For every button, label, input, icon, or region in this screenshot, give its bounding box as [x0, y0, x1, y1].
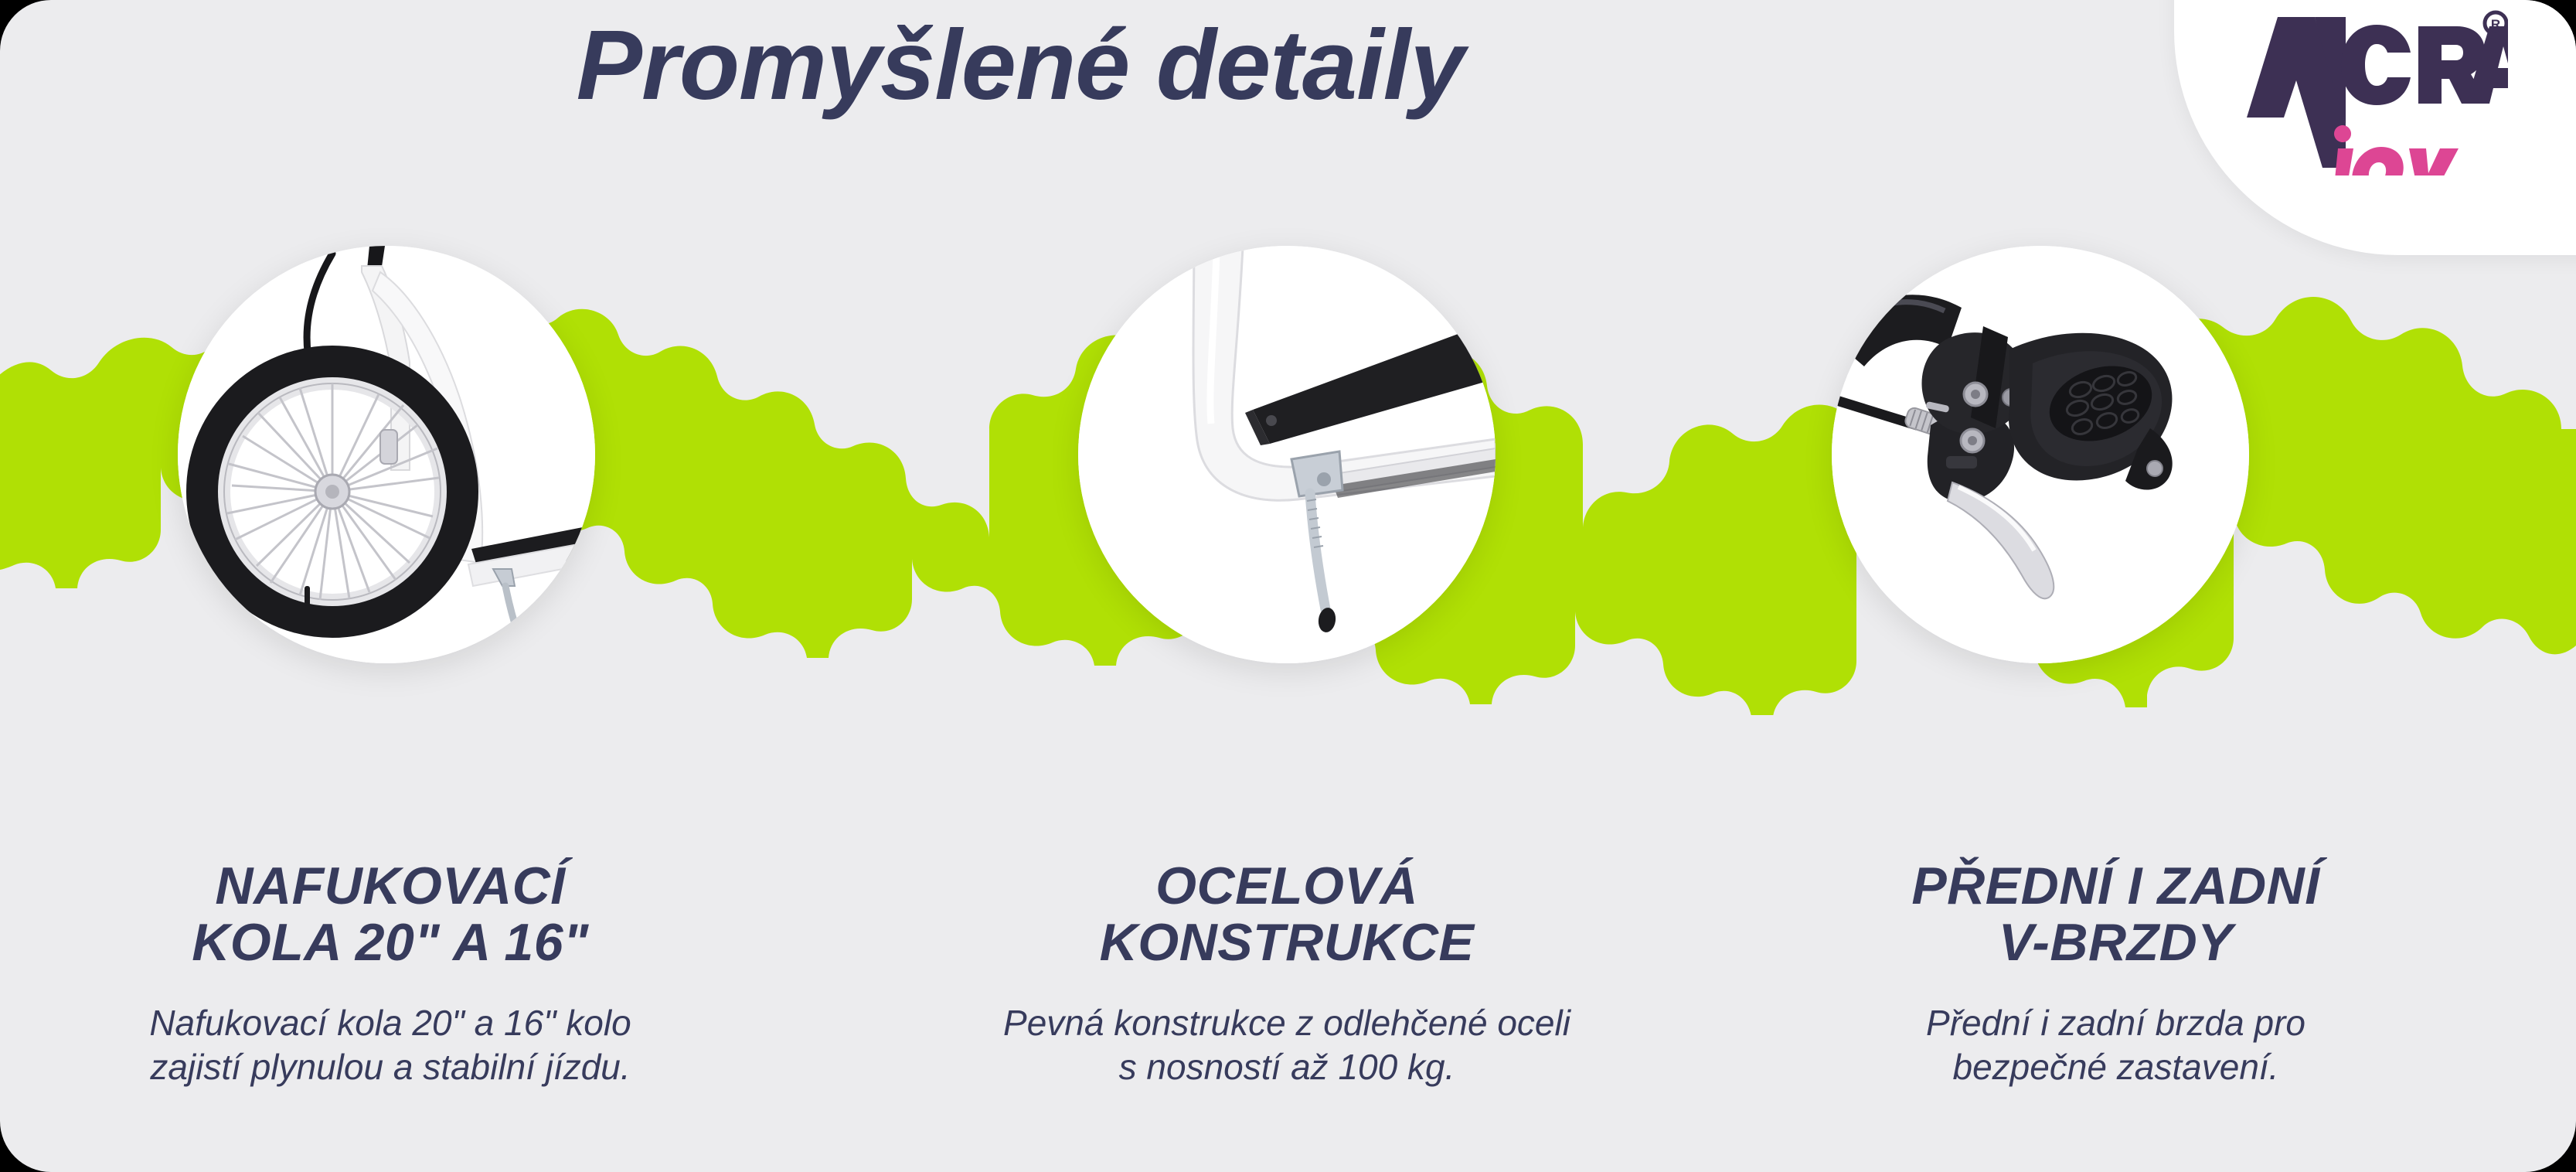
page-title: Promyšlené detaily — [0, 14, 2040, 118]
feature-body: Nafukovací kola 20" a 16" kolo zajistí p… — [43, 1001, 738, 1090]
feature-body: Pevná konstrukce z odlehčené oceli s nos… — [873, 1001, 1700, 1090]
feature-photo-steel-frame — [1078, 246, 1496, 663]
svg-text:R: R — [2491, 17, 2500, 32]
feature-steel-frame: OCELOVÁ KONSTRUKCE Pevná konstrukce z od… — [873, 858, 1700, 1090]
feature-inflatable-wheels: NAFUKOVACÍ KOLA 20" A 16" Nafukovací kol… — [43, 858, 738, 1090]
feature-body: Přední i zadní brzda pro bezpečné zastav… — [1774, 1001, 2458, 1090]
feature-photo-inflatable-wheels — [178, 246, 595, 663]
brand-logo: R — [2174, 0, 2576, 255]
feature-heading: PŘEDNÍ I ZADNÍ V-BRZDY — [1774, 858, 2458, 972]
acra-joy-logo-icon: R — [2230, 9, 2508, 175]
feature-heading: NAFUKOVACÍ KOLA 20" A 16" — [43, 858, 738, 972]
feature-v-brakes: PŘEDNÍ I ZADNÍ V-BRZDY Přední i zadní br… — [1774, 858, 2458, 1090]
feature-heading: OCELOVÁ KONSTRUKCE — [873, 858, 1700, 972]
promo-banner: Promyšlené detaily R — [0, 0, 2576, 1172]
feature-photo-v-brakes — [1832, 246, 2249, 663]
